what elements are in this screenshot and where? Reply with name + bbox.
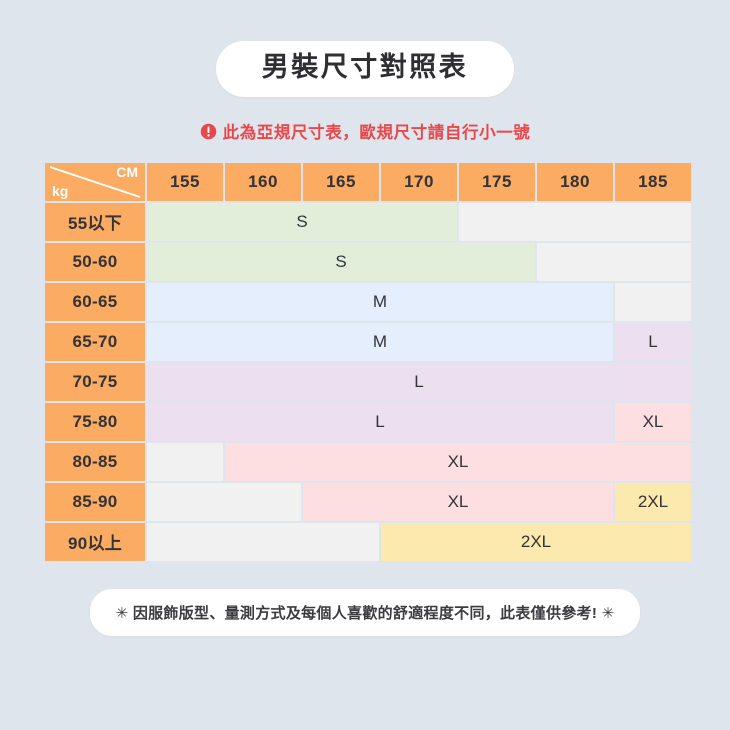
column-header-4: 175 (459, 163, 535, 201)
title-container: 男裝尺寸對照表 (0, 41, 730, 97)
size-cell-l: L (615, 323, 691, 361)
size-cell-empty (147, 443, 223, 481)
size-cell-empty (147, 523, 379, 561)
table-row: 80-85XL (45, 443, 691, 481)
page-title: 男裝尺寸對照表 (262, 53, 469, 83)
size-cell-m: M (147, 283, 613, 321)
size-cell-l: L (147, 363, 691, 401)
corner-label-kg: kg (52, 184, 68, 198)
table-row: 50-60S (45, 243, 691, 281)
footer-pill: ✳ 因服飾版型、量測方式及每個人喜歡的舒適程度不同，此表僅供參考! ✳ (90, 589, 641, 636)
size-cell-xl: XL (303, 483, 613, 521)
size-table: CM kg 155 160 165 170 175 180 185 55以下S5… (43, 161, 693, 563)
size-cell-l: L (147, 403, 613, 441)
row-label-0: 55以下 (45, 203, 145, 241)
corner-label-cm: CM (116, 165, 138, 179)
row-label-8: 90以上 (45, 523, 145, 561)
footer-note: ✳ 因服飾版型、量測方式及每個人喜歡的舒適程度不同，此表僅供參考! ✳ (116, 602, 615, 623)
size-cell-empty (615, 283, 691, 321)
exclamation-circle-icon (200, 123, 217, 140)
title-pill: 男裝尺寸對照表 (216, 41, 515, 97)
size-table-container: CM kg 155 160 165 170 175 180 185 55以下S5… (43, 161, 687, 563)
size-cell-empty (459, 203, 691, 241)
warning-banner: 此為亞規尺寸表，歐規尺寸請自行小一號 (200, 119, 531, 143)
size-cell-s: S (147, 203, 457, 241)
row-label-1: 50-60 (45, 243, 145, 281)
column-header-1: 160 (225, 163, 301, 201)
size-cell-s: S (147, 243, 535, 281)
row-label-3: 65-70 (45, 323, 145, 361)
table-row: 75-80LXL (45, 403, 691, 441)
size-cell-empty (147, 483, 301, 521)
table-row: 55以下S (45, 203, 691, 241)
column-header-2: 165 (303, 163, 379, 201)
row-label-7: 85-90 (45, 483, 145, 521)
size-cell-xl: XL (615, 403, 691, 441)
row-label-2: 60-65 (45, 283, 145, 321)
table-row: 90以上2XL (45, 523, 691, 561)
footer-container: ✳ 因服飾版型、量測方式及每個人喜歡的舒適程度不同，此表僅供參考! ✳ (0, 589, 730, 636)
warning-text: 此為亞規尺寸表，歐規尺寸請自行小一號 (223, 119, 531, 143)
size-cell-empty (537, 243, 691, 281)
table-row: 85-90XL2XL (45, 483, 691, 521)
table-header-row: CM kg 155 160 165 170 175 180 185 (45, 163, 691, 201)
row-label-6: 80-85 (45, 443, 145, 481)
size-chart-page: 男裝尺寸對照表 此為亞規尺寸表，歐規尺寸請自行小一號 (0, 0, 730, 730)
size-cell-xl: XL (225, 443, 691, 481)
column-header-0: 155 (147, 163, 223, 201)
table-body: 55以下S50-60S60-65M65-70ML70-75L75-80LXL80… (45, 203, 691, 561)
table-row: 60-65M (45, 283, 691, 321)
column-header-3: 170 (381, 163, 457, 201)
column-header-5: 180 (537, 163, 613, 201)
corner-cell-cm-kg: CM kg (45, 163, 145, 201)
table-header: CM kg 155 160 165 170 175 180 185 (45, 163, 691, 201)
size-cell-2xl: 2XL (381, 523, 691, 561)
row-label-5: 75-80 (45, 403, 145, 441)
column-header-6: 185 (615, 163, 691, 201)
size-cell-2xl: 2XL (615, 483, 691, 521)
table-row: 70-75L (45, 363, 691, 401)
table-row: 65-70ML (45, 323, 691, 361)
row-label-4: 70-75 (45, 363, 145, 401)
size-cell-m: M (147, 323, 613, 361)
